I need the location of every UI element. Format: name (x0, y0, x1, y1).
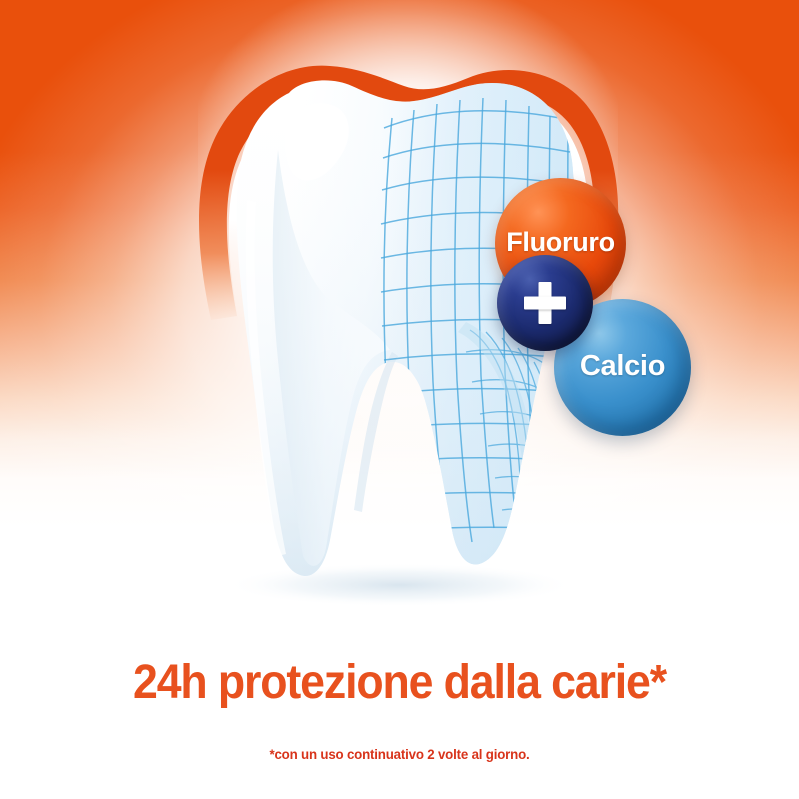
headline: 24h protezione dalla carie* (28, 655, 771, 711)
bubble-label-fluoruro: Fluoruro (506, 227, 615, 258)
ingredient-bubble-plus (497, 255, 593, 351)
footnote: *con un uso continuativo 2 volte al gior… (20, 746, 779, 762)
bubble-label-calcio: Calcio (580, 350, 665, 383)
advertisement-canvas: Fluoruro Calcio 24h protezione dalla car… (0, 0, 799, 799)
plus-icon (522, 280, 568, 326)
tooth-floor-shadow (225, 563, 575, 607)
